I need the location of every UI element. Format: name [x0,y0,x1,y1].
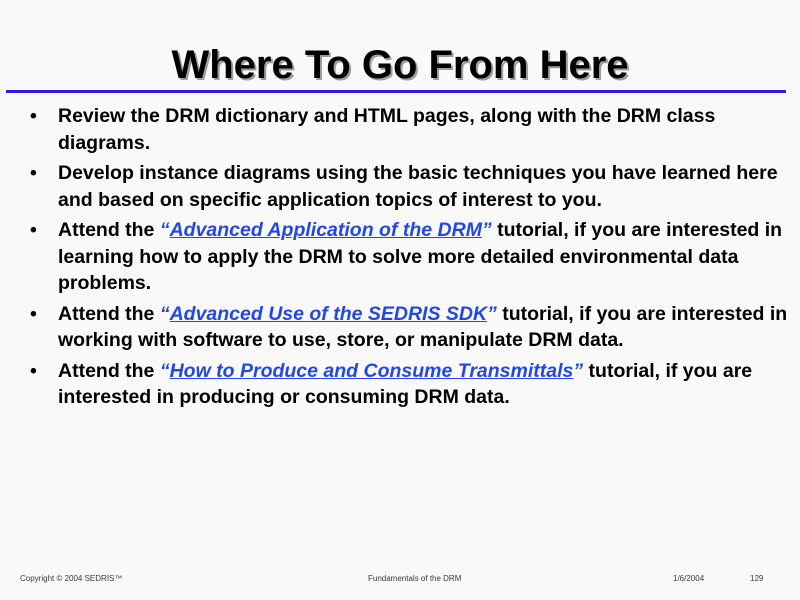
link-open-quote: “ [160,219,170,241]
list-item: •Attend the “Advanced Use of the SEDRIS … [16,301,788,354]
footer-page-number: 129 [750,574,763,583]
bullet-point-icon: • [30,301,37,328]
slide-footer: Copyright © 2004 SEDRIS™ Fundamentals of… [0,572,800,588]
tutorial-link[interactable]: Advanced Application of the DRM [170,219,482,241]
link-close-quote: ” [573,360,583,382]
tutorial-link[interactable]: Advanced Use of the SEDRIS SDK [170,303,487,325]
title-divider-rule [6,90,786,93]
slide-canvas: Where To Go From Here •Review the DRM di… [0,0,800,600]
link-open-quote: “ [160,303,170,325]
list-item: •Develop instance diagrams using the bas… [16,160,788,213]
footer-presentation-title: Fundamentals of the DRM [368,574,461,583]
link-open-quote: “ [160,360,170,382]
page-title: Where To Go From Here [171,41,628,89]
list-item: •Attend the “How to Produce and Consume … [16,358,788,411]
link-close-quote: ” [482,219,492,241]
list-item: •Attend the “Advanced Application of the… [16,217,788,297]
bullet-advanced-application-drm: Attend the “Advanced Application of the … [58,219,782,294]
bullet-point-icon: • [30,103,37,130]
bullet-text-run: Review the DRM dictionary and HTML pages… [58,105,715,154]
list-item: •Review the DRM dictionary and HTML page… [16,103,788,156]
footer-date: 1/6/2004 [673,574,704,583]
bullet-text-run: Attend the [58,303,160,325]
footer-copyright: Copyright © 2004 SEDRIS™ [20,574,122,583]
bullet-produce-consume-transmittals: Attend the “How to Produce and Consume T… [58,360,752,409]
bullet-text-run: Attend the [58,360,160,382]
link-close-quote: ” [487,303,497,325]
bullet-list: •Review the DRM dictionary and HTML page… [16,103,788,415]
bullet-develop-instance-diagrams: Develop instance diagrams using the basi… [58,162,778,211]
title-area: Where To Go From Here [0,14,800,116]
bullet-advanced-use-sedris-sdk: Attend the “Advanced Use of the SEDRIS S… [58,303,787,352]
tutorial-link[interactable]: How to Produce and Consume Transmittals [170,360,574,382]
bullet-review-drm-dictionary: Review the DRM dictionary and HTML pages… [58,105,715,154]
bullet-point-icon: • [30,217,37,244]
bullet-text-run: Develop instance diagrams using the basi… [58,162,778,211]
bullet-point-icon: • [30,160,37,187]
bullet-text-run: Attend the [58,219,160,241]
bullet-point-icon: • [30,358,37,385]
